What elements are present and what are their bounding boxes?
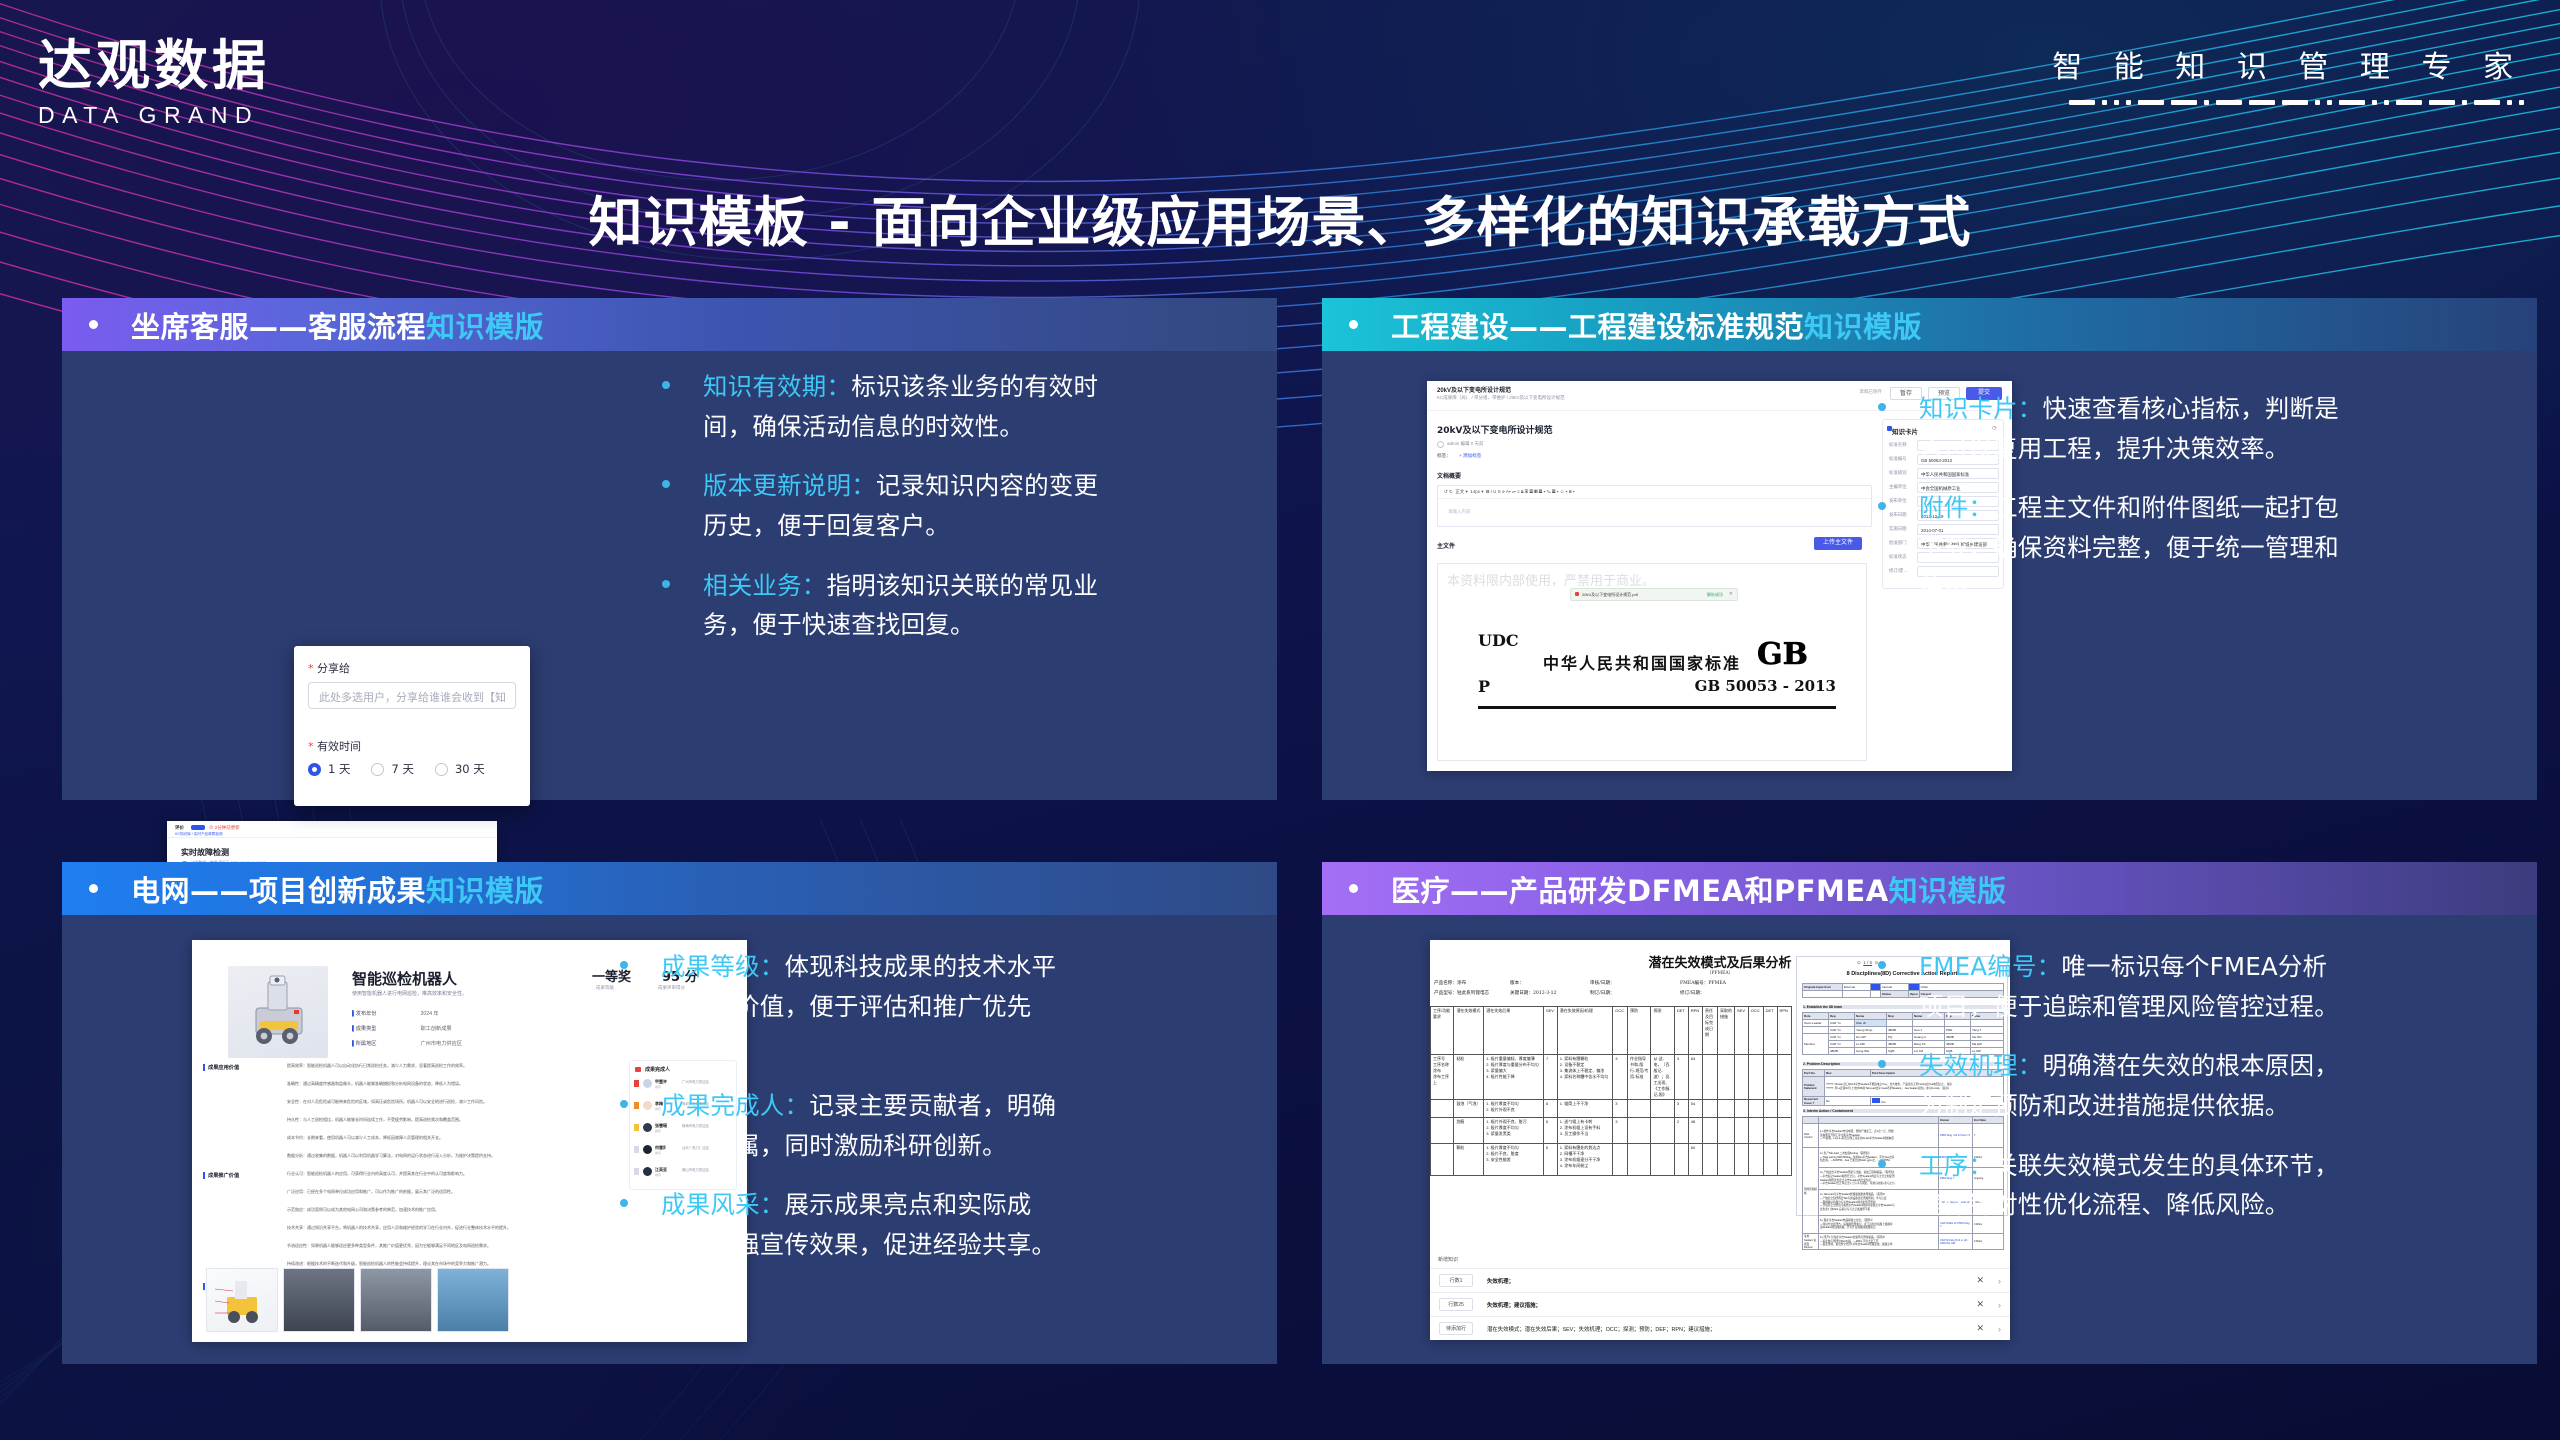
gb-p-label: P	[1478, 677, 1490, 696]
card-body: 20kV及以下变电所设计规范 KC成果库（局） / 带分组、带维护 / 20kV…	[1322, 351, 2537, 800]
td	[1613, 1144, 1628, 1176]
list-item: 成果风采：展示成果亮点和实际成效，增强宣传效果，促进经验共享。	[620, 1185, 1277, 1264]
screenshot-preview[interactable]: 20kV及以下变电所设计规范 KC成果库（局） / 带分组、带维护 / 20kV…	[1322, 351, 1878, 800]
fmea-meta: 版本：	[1510, 980, 1524, 986]
fmea-meta: FMEA编号：PFMEA	[1680, 980, 1726, 986]
share-user-input[interactable]: 此处多选用户，分享给谁谁会收到【知	[308, 682, 516, 709]
meta-key: 所属地区	[356, 1041, 377, 1047]
td	[1777, 1118, 1792, 1144]
bullet-list-pane: 知识有效期：标识该条业务的有效时间，确保活动信息的时效性。 版本更新说明：记录知…	[662, 351, 1277, 800]
td: 1. 辊筒上不干净	[1557, 1100, 1612, 1118]
editor-box[interactable]: ↺ ↻ 正文 ▾ 14px ▾ B I U S ⟡ A▾ ▴▾ ≡ ≣ ▣ ▤ …	[1437, 485, 1872, 527]
fmea-meta: 修订/日期：	[1680, 990, 1705, 996]
bullet-dot-icon	[1878, 1160, 1886, 1168]
pdf-icon	[1575, 592, 1579, 596]
td: 1. 送勺辊上有卡刺 2. 涂布机辊上设有手料 3. 员工操作不当	[1557, 1118, 1612, 1144]
td: Member	[1803, 1034, 1829, 1055]
brand-name-en: DATA GRAND	[38, 102, 458, 129]
tag-label: 标签：	[1437, 453, 1451, 459]
bullet-list-pane: 成果等级：体现科技成果的技术水平和应用价值，便于评估和推广优先级。 成果完成人：…	[620, 915, 1277, 1364]
td: 从·这-电，（百-般记-波）；员-工出现、《工作服-记-照》	[1651, 1055, 1674, 1100]
th: 工序/功能要求	[1431, 1007, 1454, 1055]
photo-gallery[interactable]	[206, 1268, 509, 1332]
section2-row: 节流适应性：如果机器人能够适应更多种类型条件，其推广价值更优秀，因为它能够满足不…	[287, 1243, 491, 1249]
validity-radio-group[interactable]: 1 天 7 天 30 天	[308, 761, 499, 777]
td	[1431, 1118, 1454, 1144]
td	[1717, 1144, 1734, 1176]
td	[1628, 1144, 1651, 1176]
svg-text:GB: GB	[1757, 637, 1808, 670]
th: 责任及目标完成日期	[1703, 1007, 1718, 1055]
brand-name-cn: 达观数据	[38, 38, 458, 95]
list-item: FMEA编号：唯一标识每个FMEA分析项目，便于追踪和管理风险管控过程。	[1878, 947, 2537, 1026]
meta-value: 2024 年	[420, 1011, 438, 1017]
section2-row: 行业认可：智能巡检机器人的应用，可获得行业内的高度认可，并提高其在行业中的认可度…	[287, 1171, 467, 1177]
table-row: 划痕 1. 极片外观不良、脏污 2. 极片厚度不均匀 3. 浆量发黑类 6 1.…	[1431, 1118, 1792, 1144]
td	[1717, 1100, 1734, 1118]
share-dialog[interactable]: * 分享给 此处多选用户，分享给谁谁会收到【知 * 有效时间 1 天 7 天 3…	[294, 646, 530, 806]
td: 48	[1688, 1118, 1702, 1144]
td	[1674, 1144, 1688, 1176]
achievement-subtitle: 使用智能机器人进行电网巡检，推高效率和安全性。	[352, 990, 467, 997]
bullet-dot-icon	[662, 480, 670, 488]
doc-status: ⊘ 2分钟前更新	[209, 825, 240, 831]
row-chip: 待添加行	[1439, 1322, 1473, 1335]
fmea-meta: 制订/日期：	[1590, 990, 1615, 996]
doc-badge	[191, 825, 205, 830]
td: 划痕	[1454, 1118, 1484, 1144]
td	[1763, 1055, 1777, 1100]
fmea-meta: 审核/日期：	[1590, 980, 1615, 986]
td	[1777, 1144, 1792, 1176]
bullet-key: 知识卡片：	[1919, 394, 2043, 423]
card-title: 工程建设——工程建设标准规范知识模版	[1391, 304, 1922, 346]
file-chip[interactable]: 20kV及以下变电所设计规范.pdf 解析成功 ✕	[1570, 588, 1738, 601]
list-item: 知识卡片：快速查看核心指标，判断是否可以复用工程，提升决策效率。	[1878, 389, 2537, 468]
th: 潜在失效原因/机理	[1557, 1007, 1612, 1055]
screenshot-preview[interactable]: 智能巡检机器人 使用智能机器人进行电网巡检，推高效率和安全性。 一等奖 成果等级…	[62, 915, 620, 1364]
upload-button[interactable]: 上传主文件	[1814, 537, 1862, 550]
bullet-list-pane: FMEA编号：唯一标识每个FMEA分析项目，便于追踪和管理风险管控过程。 失效机…	[1878, 915, 2537, 1364]
gallery-image-3[interactable]	[360, 1268, 432, 1332]
list-item: 知识有效期：标识该条业务的有效时间，确保活动信息的时效性。	[662, 367, 1277, 446]
td: 2	[1674, 1118, 1688, 1144]
bullet-dot-icon	[1878, 1060, 1886, 1068]
bullet-dot-icon	[89, 884, 98, 893]
td: 6	[1543, 1144, 1557, 1176]
section1-row: 提高效率：智能巡检机器人可以自动化执行日常巡检任务，减少人力需求，显著提高巡检工…	[287, 1063, 467, 1069]
radio-1day[interactable]	[308, 763, 321, 776]
bullet-dot-icon	[1349, 884, 1358, 893]
bullet-key: 知识有效期：	[703, 372, 851, 401]
bullet-dot-icon	[89, 320, 98, 329]
td	[1763, 1100, 1777, 1118]
add-tag-button[interactable]: + 添加标签	[1459, 453, 1481, 459]
td: 54	[1688, 1100, 1702, 1118]
bullet-dot-icon	[662, 381, 670, 389]
td	[1703, 1100, 1718, 1118]
td: Dep	[1829, 1013, 1855, 1020]
bullet-key: 相关业务：	[703, 571, 827, 600]
td: Original Input from	[1803, 984, 1843, 991]
row-chip: 行数1	[1439, 1274, 1473, 1287]
list-item: 失效机理：明确潜在失效的根本原因，为制定预防和改进措施提供依据。	[1878, 1046, 2537, 1125]
pdf-viewer[interactable]: 本资料限内部使用，严禁用于商业。 20kV及以下变电所设计规范.pdf 解析成功…	[1437, 563, 1867, 761]
section-label-2: 成果推广价值	[203, 1172, 239, 1179]
th: DET	[1674, 1007, 1688, 1055]
bullet-key: 工序：	[1919, 1151, 1993, 1180]
td	[1703, 1118, 1718, 1144]
summary-label: 文档概要	[1437, 471, 1461, 480]
td	[1735, 1100, 1749, 1118]
td: 粘粒	[1454, 1055, 1484, 1100]
td: 鼓泡（气泡）	[1454, 1100, 1484, 1118]
td	[1717, 1118, 1734, 1144]
doc-meta: admin 编辑 0 天前	[1447, 441, 1484, 447]
row-content: 失效机理；建议措施；	[1487, 1301, 1541, 1309]
td	[1717, 1055, 1734, 1100]
td	[1651, 1144, 1674, 1176]
td	[1431, 1144, 1454, 1176]
th: 预防	[1628, 1007, 1651, 1055]
td	[1763, 1144, 1777, 1176]
fmea-meta: 产品名称：涂布	[1434, 980, 1466, 986]
td	[1735, 1118, 1749, 1144]
gb-udc-label: UDC	[1478, 631, 1519, 650]
card-header: 医疗——产品研发DFMEA和PFMEA知识模版	[1322, 862, 2537, 915]
bullet-dot-icon	[1349, 320, 1358, 329]
td: 3	[1674, 1100, 1688, 1118]
td: 颗粒	[1454, 1144, 1484, 1176]
tagline-text: 智 能 知 识 管 理 专 家	[2052, 42, 2524, 86]
pager[interactable]: ⊙ 1 / 5 ⊙	[1857, 960, 1878, 966]
gb-logo-icon: GB	[1756, 636, 1818, 670]
row-content: 失效机理；	[1487, 1277, 1514, 1285]
app-breadcrumb-title: 20kV及以下变电所设计规范	[1437, 385, 1511, 394]
th: SEV	[1543, 1007, 1557, 1055]
screenshot-preview[interactable]: 评价 ⊘ 2分钟前更新 KC知识库 / 实时产品故障检测 实时故障检测 达观数据…	[62, 351, 662, 800]
td	[1748, 1144, 1763, 1176]
gallery-image-1[interactable]	[206, 1268, 278, 1332]
page-title: 知识模板 - 面向企业级应用场景、多样化的知识承载方式	[0, 178, 2560, 257]
card-header: 电网——项目创新成果知识模版	[62, 862, 1277, 915]
td	[1748, 1100, 1763, 1118]
section1-row: 准确性：通过高精度传感器和监像头，机器人能够准确捕捉和分析电网设备的状态，降低人…	[287, 1081, 463, 1087]
bullet-key: 成果等级：	[661, 952, 785, 981]
th: OCC	[1748, 1007, 1763, 1055]
td: 3	[1613, 1118, 1628, 1144]
doc-tag: 评价	[175, 825, 184, 831]
meta-value: 广州市电力供应区	[420, 1041, 462, 1047]
radio-7days[interactable]	[371, 763, 384, 776]
td	[1735, 1055, 1749, 1100]
td: 工序号 工序名称 涂布 涂布工序上	[1431, 1055, 1454, 1100]
section2-row: 技术共享：通过知识共享平台，将机器人的技术共享，应用人员和维护经验的学习在行业内…	[287, 1225, 511, 1231]
td: 63	[1688, 1055, 1702, 1100]
close-icon[interactable]: ✕	[1729, 591, 1733, 597]
new-knowledge-label: 新增知识	[1438, 1256, 1458, 1263]
td: External	[1843, 984, 1871, 991]
th: SEV	[1735, 1007, 1749, 1055]
pdf-watermark: 本资料限内部使用，严禁用于商业。	[1447, 570, 1655, 589]
td: 风险控制措施	[1803, 1148, 1819, 1234]
th: DET	[1763, 1007, 1777, 1055]
robot-illustration-icon	[228, 966, 328, 1058]
doc-title: 20kV及以下变电所设计规范	[1437, 423, 1552, 436]
table-row: 工序号 工序名称 涂布 涂布工序上 粘粒 1. 极片重量偏轻、厚度偏薄 2. 极…	[1431, 1055, 1792, 1100]
gallery-image-4[interactable]	[437, 1268, 509, 1332]
bullets: 知识有效期：标识该条业务的有效时间，确保活动信息的时效性。 版本更新说明：记录知…	[662, 367, 1277, 645]
list-item: 相关业务：指明该知识关联的常见业务，便于快速查找回复。	[662, 566, 1277, 645]
section1-row: 数据分析：通过收集的数据，机器人可以利用机器学习算法，对电网的运行状态进行深入分…	[287, 1153, 495, 1159]
meta-key: 发布年份	[356, 1011, 377, 1017]
td: 60	[1688, 1144, 1702, 1176]
card-medical: 医疗——产品研发DFMEA和PFMEA知识模版 潜在失效模式及后果分析 （PFM…	[1322, 862, 2537, 1364]
bullet-dot-icon	[1878, 403, 1886, 411]
td: 专用Sealant 识别及 Review	[1803, 1234, 1819, 1250]
bullet-key: FMEA编号：	[1919, 952, 2061, 981]
breadcrumb: KC成果库（局） / 带分组、带维护 / 20kV及以下变电所设计规范	[1437, 395, 1565, 401]
th: RPN	[1688, 1007, 1702, 1055]
file-status: 解析成功	[1707, 592, 1723, 598]
td: 1. 浆料有團顆粒 2. 设备不稳定 3. 集流体上不稳定、偏浓 4. 浆料名称…	[1557, 1055, 1612, 1100]
section1-row: 安全性：在对人员危险或可能带来危险的区域，如高压或危险场所，机器人可以安全地进行…	[287, 1099, 487, 1105]
td: 1. 极片厚度不均匀 2. 极片不良、脏度 3. 安全性能差	[1484, 1144, 1544, 1176]
td: 1. 浆料有團处的划达点 2. 网槽不干净 3. 涂布机辊速分不干净 4. 涂布…	[1557, 1144, 1612, 1176]
td	[1735, 1144, 1749, 1176]
td: 1. 极片重量偏轻、厚度偏薄 2. 极片厚度与重量分布不均匀 3. 浆量偏大 4…	[1484, 1055, 1544, 1100]
doc-breadcrumb: KC知识库 / 实时产品故障检测	[175, 832, 223, 837]
td: 1. 极片外观不良、脏污 2. 极片厚度不均匀 3. 浆量发黑类	[1484, 1118, 1544, 1144]
editor-placeholder: 请输入内容	[1448, 509, 1471, 515]
screenshot-preview[interactable]: 潜在失效模式及后果分析 （PFMEA） 产品名称：涂布 产品型号：钴此系列锂电芯…	[1322, 915, 1878, 1364]
gb-standard-code: GB 50053 - 2013	[1695, 677, 1836, 695]
fmea-table: 工序/功能要求 潜在失效模式 潜在失效后果 SEV 潜在失效原因/机理 OCC …	[1430, 1006, 1792, 1176]
required-asterisk-icon-2: *	[308, 740, 314, 753]
robot-photo	[228, 966, 328, 1058]
td	[1431, 1100, 1454, 1118]
td: 3	[1674, 1055, 1688, 1100]
file-name: 20kV及以下变电所设计规范.pdf	[1582, 592, 1638, 598]
td: No	[1825, 1097, 1871, 1106]
table-row: 颗粒 1. 极片厚度不均匀 2. 极片不良、脏度 3. 安全性能差 6 1. 浆…	[1431, 1144, 1792, 1176]
td	[1651, 1100, 1674, 1118]
list-item: 成果完成人：记录主要贡献者，明确责任归属，同时激励科研创新。	[620, 1086, 1277, 1165]
section1-row: 持久性：与人工巡检相比，机器人能够长时间连续工作，不受疲劳影响，提高巡检频次和覆…	[287, 1117, 463, 1123]
td	[1763, 1118, 1777, 1144]
th: 采取的措施	[1717, 1007, 1734, 1055]
gb-national-title: 中华人民共和国国家标准	[1543, 650, 1741, 674]
fmea-meta: 关键日期：2012-3-12	[1510, 990, 1557, 996]
th: 探测	[1651, 1007, 1674, 1055]
fmea-meta: 产品型号：钴此系列锂电芯	[1434, 990, 1489, 996]
list-item: 成果等级：体现科技成果的技术水平和应用价值，便于评估和推广优先级。	[620, 947, 1277, 1066]
grade-caption: 成果等级	[596, 985, 614, 991]
td	[1703, 1144, 1718, 1176]
radio-30days[interactable]	[435, 763, 448, 776]
bullets: 成果等级：体现科技成果的技术水平和应用价值，便于评估和推广优先级。 成果完成人：…	[620, 947, 1277, 1265]
section2-row: 示范效应：成功案例可以成为其他电网公司和决策参考的典范，加速技术的推广应用。	[287, 1207, 439, 1213]
card-header: 工程建设——工程建设标准规范知识模版	[1322, 298, 2537, 351]
td: 7	[1543, 1055, 1557, 1100]
gallery-image-2[interactable]	[283, 1268, 355, 1332]
td	[1748, 1118, 1763, 1144]
card-header: 坐席客服——客服流程知识模版	[62, 298, 1277, 351]
td	[1748, 1055, 1763, 1100]
bullet-key: 失效机理：	[1919, 1051, 2043, 1080]
td: 6	[1543, 1118, 1557, 1144]
required-asterisk-icon: *	[308, 662, 314, 675]
bullet-key: 成果完成人：	[661, 1091, 809, 1120]
td: 1. 极片厚度不均匀 2. 极片外观不良	[1484, 1100, 1544, 1118]
td	[1703, 1055, 1718, 1100]
doc-title: 实时故障检测	[181, 847, 229, 858]
section1-row: 成本节约：长期来看，使用机器人可以减少人工成本，降低因故障人员管理的相关开支。	[287, 1135, 443, 1141]
avatar	[1437, 441, 1444, 448]
share-input-placeholder: 此处多选用户，分享给谁谁会收到【知	[319, 689, 506, 705]
bullet-dot-icon	[1878, 502, 1886, 510]
section-label-1: 成果应用价值	[203, 1064, 239, 1071]
td	[1777, 1055, 1792, 1100]
section2-row: 持续改进：根据技术的不断迭代和升级，智能巡检机器人的性能会持续提升，理论其在市场…	[287, 1261, 491, 1267]
brand-logo: 达观数据 DATA GRAND	[38, 38, 458, 129]
th: OCC	[1613, 1007, 1628, 1055]
bullet-dot-icon	[1878, 961, 1886, 969]
td	[1628, 1118, 1651, 1144]
card-body: 潜在失效模式及后果分析 （PFMEA） 产品名称：涂布 产品型号：钴此系列锂电芯…	[1322, 915, 2537, 1364]
card-body: 智能巡检机器人 使用智能机器人进行电网巡检，推高效率和安全性。 一等奖 成果等级…	[62, 915, 1277, 1364]
bullet-key: 成果风采：	[661, 1190, 785, 1219]
list-item: 版本更新说明：记录知识内容的变更历史，便于回复客户。	[662, 466, 1277, 545]
tagline-morse-decoration	[2052, 99, 2524, 106]
row-content: 潜在失效模式；潜在失效后果；SEV；失效机理；OCC；探测；预防；DEF；RPN…	[1487, 1325, 1715, 1333]
bullets: FMEA编号：唯一标识每个FMEA分析项目，便于追踪和管理风险管控过程。 失效机…	[1878, 947, 2537, 1225]
list-item: 附件：工程主文件和附件图纸一起打包下载，确保资料完整，便于统一管理和使用。	[1878, 488, 2537, 607]
bullet-dot-icon	[620, 961, 628, 969]
card-title: 电网——项目创新成果知识模版	[131, 868, 544, 910]
bullets: 知识卡片：快速查看核心指标，判断是否可以复用工程，提升决策效率。 附件：工程主文…	[1878, 389, 2537, 607]
td: 3	[1613, 1055, 1628, 1100]
card-title: 坐席客服——客服流程知识模版	[131, 304, 544, 346]
row-chip: 行数25	[1439, 1298, 1473, 1311]
card-body: 评价 ⊘ 2分钟前更新 KC知识库 / 实时产品故障检测 实时故障检测 达观数据…	[62, 351, 1277, 800]
td: Team Leader	[1803, 1020, 1829, 1027]
th: 潜在失效模式	[1454, 1007, 1484, 1055]
bullet-list-pane: 知识卡片：快速查看核心指标，判断是否可以复用工程，提升决策效率。 附件：工程主文…	[1878, 351, 2537, 800]
td: 作业指导书和-版行-规范/专用-标准	[1628, 1055, 1651, 1100]
card-engineering: 工程建设——工程建设标准规范知识模版 20kV及以下变电所设计规范 KC成果库（…	[1322, 298, 2537, 800]
th: 潜在失效后果	[1484, 1007, 1544, 1055]
th: RPN	[1777, 1007, 1792, 1055]
validity-field-label: * 有效时间	[308, 738, 361, 754]
td: Role	[1803, 1013, 1829, 1020]
td: Risk Control	[1803, 1124, 1819, 1148]
td	[1628, 1100, 1651, 1118]
td: 6	[1543, 1100, 1557, 1118]
card-title: 医疗——产品研发DFMEA和PFMEA知识模版	[1391, 868, 2007, 910]
list-item: 工序：关联失效模式发生的具体环节，确保针对性优化流程、降低风险。	[1878, 1146, 2537, 1225]
card-seat-service: 坐席客服——客服流程知识模版 评价 ⊘ 2分钟前更新 KC知识库 / 实时产品故…	[62, 298, 1277, 800]
td	[1777, 1100, 1792, 1118]
editor-toolbar[interactable]: ↺ ↻ 正文 ▾ 14px ▾ B I U S ⟡ A▾ ▴▾ ≡ ≣ ▣ ▤ …	[1444, 489, 1575, 495]
share-field-label: * 分享给	[308, 660, 350, 676]
bullet-key: 版本更新说明：	[703, 471, 876, 500]
bullet-dot-icon	[620, 1199, 628, 1207]
bullet-dot-icon	[620, 1100, 628, 1108]
section2-row: 广泛应用：已经在多个电网单位成功应用和推广，可以作为推广的依据，展示其广泛的适用…	[287, 1189, 455, 1195]
card-power-grid: 电网——项目创新成果知识模版 智能巡检机器人	[62, 862, 1277, 1364]
meta-key: 成果类型	[356, 1026, 377, 1032]
bullet-dot-icon	[662, 580, 670, 588]
td: 3	[1613, 1100, 1628, 1118]
bullet-key: 附件：	[1919, 493, 1993, 522]
table-row: 鼓泡（气泡） 1. 极片厚度不均匀 2. 极片外观不良 6 1. 辊筒上不干净 …	[1431, 1100, 1792, 1118]
td	[1651, 1118, 1674, 1144]
mainfile-label: 主文件	[1437, 541, 1455, 550]
td: Recurrent Issue ?	[1803, 1097, 1825, 1106]
tagline-block: 智 能 知 识 管 理 专 家	[2052, 42, 2524, 106]
achievement-title: 智能巡检机器人	[352, 968, 457, 989]
meta-value: 职工创新成果	[420, 1026, 451, 1032]
